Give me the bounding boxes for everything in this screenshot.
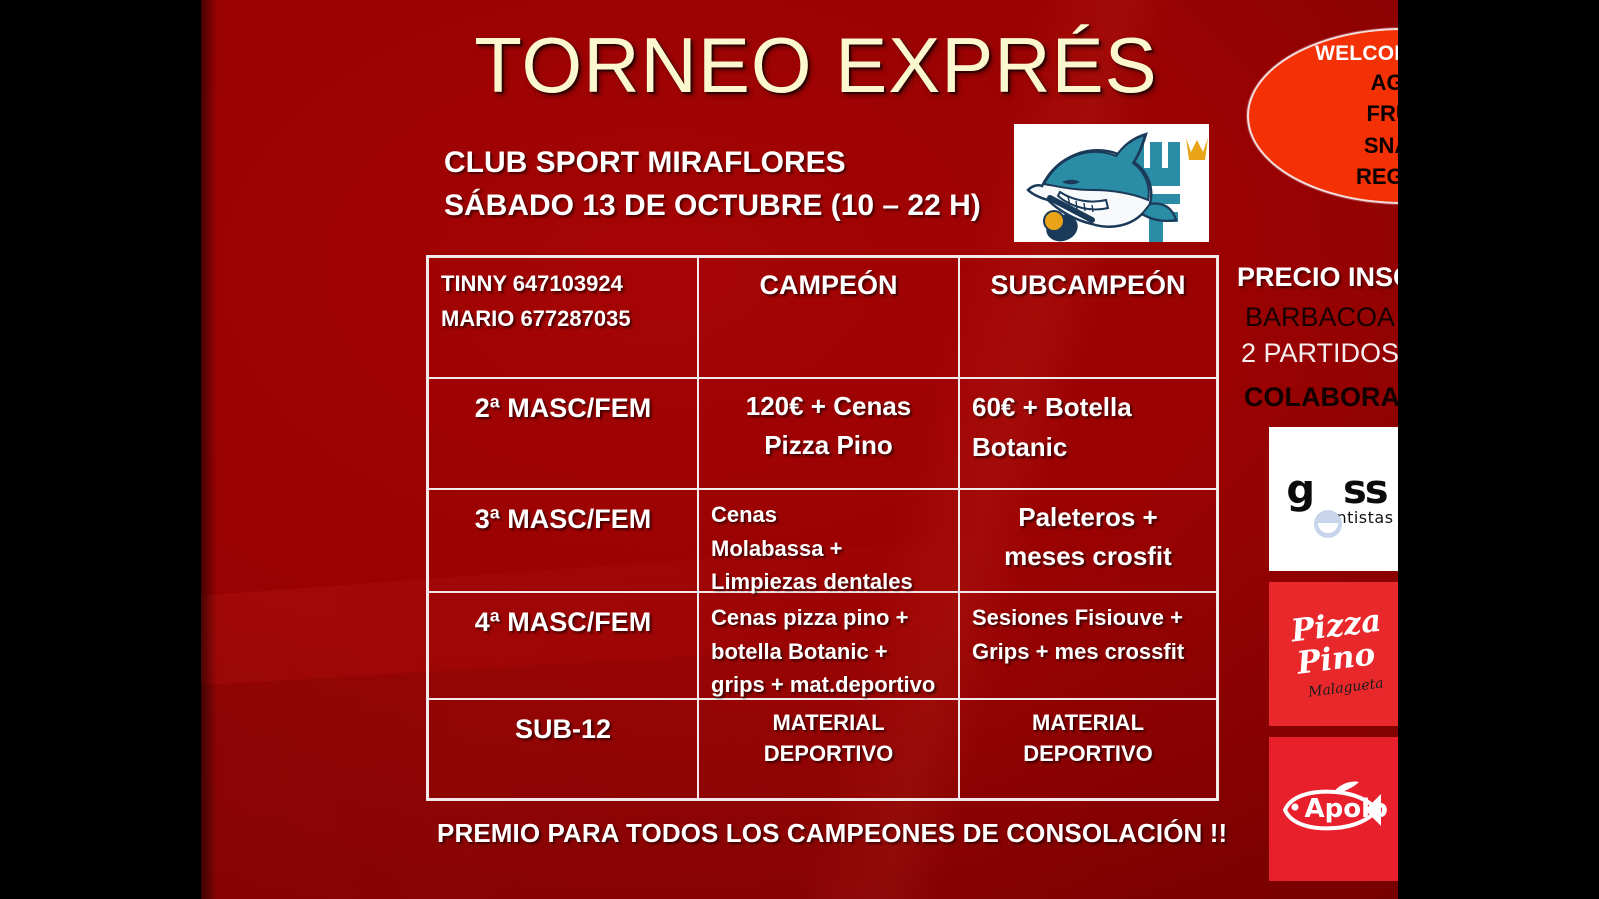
category-cell: 4ª MASC/FEM [429, 593, 699, 698]
table-row: 4ª MASC/FEM Cenas pizza pino + botella B… [429, 593, 1216, 700]
contact-mario: MARIO 677287035 [441, 301, 685, 336]
welcome-pack-item: SNACK [1364, 130, 1398, 161]
guaranteed-matches-note: 2 PARTIDOS GARANTIZADOS [1241, 338, 1398, 369]
page-title: TORNEO EXPRÉS [451, 26, 1181, 106]
sponsor-gross-dentistas-logo[interactable]: g ss dentistas [1269, 427, 1398, 571]
runnerup-prize-cell: 60€ + Botella Botanic [960, 379, 1216, 488]
consolation-prize-banner: PREMIO PARA TODOS LOS CAMPEONES DE CONSO… [437, 818, 1217, 849]
poster-canvas: TORNEO EXPRÉS CLUB SPORT MIRAFLORES SÁBA… [0, 0, 1599, 899]
champion-prize-cell: Cenas Molabassa + Limpiezas dentales [699, 490, 960, 591]
champion-prize-cell: MATERIAL DEPORTIVO [699, 700, 960, 800]
category-cell: 3ª MASC/FEM [429, 490, 699, 591]
prize-line: Molabassa + [711, 532, 946, 566]
welcome-pack-title: WELCOME PACK [1315, 40, 1398, 67]
sponsors-heading: COLABORAN: [1244, 382, 1398, 413]
category-label: 3ª MASC/FEM [441, 498, 685, 537]
category-label: 4ª MASC/FEM [441, 601, 685, 640]
header-campeon: CAMPEÓN [711, 266, 946, 305]
prize-line: Botanic [972, 427, 1204, 467]
prize-line: Cenas [711, 498, 946, 532]
sponsor-pizza-pino-logo[interactable]: Pizza Pino Malagueta [1269, 582, 1398, 726]
gross-wordmark: g ss [1286, 471, 1386, 509]
prize-line: DEPORTIVO [711, 739, 946, 770]
prize-line: botella Botanic + [711, 635, 946, 669]
category-label: 2ª MASC/FEM [441, 387, 685, 426]
table-row: 2ª MASC/FEM 120€ + Cenas Pizza Pino 60€ … [429, 379, 1216, 490]
column-header-champion: CAMPEÓN [699, 258, 960, 377]
header-subcampeon: SUBCAMPEÓN [972, 266, 1204, 305]
runnerup-prize-cell: MATERIAL DEPORTIVO [960, 700, 1216, 800]
welcome-pack-item: AGUA [1371, 67, 1398, 98]
poster-panel: TORNEO EXPRÉS CLUB SPORT MIRAFLORES SÁBA… [201, 0, 1398, 899]
category-label: SUB-12 [441, 708, 685, 747]
prizes-table: TINNY 647103924 MARIO 677287035 CAMPEÓN … [426, 255, 1219, 801]
column-header-runnerup: SUBCAMPEÓN [960, 258, 1216, 377]
sponsor-apolo-logo[interactable]: Apolo [1269, 737, 1398, 881]
event-subtitle: CLUB SPORT MIRAFLORES SÁBADO 13 DE OCTUB… [444, 142, 1044, 227]
prize-line: DEPORTIVO [972, 739, 1204, 770]
prize-line: MATERIAL [711, 708, 946, 739]
category-cell: 2ª MASC/FEM [429, 379, 699, 488]
champion-prize-cell: 120€ + Cenas Pizza Pino [699, 379, 960, 488]
pino-line2: Pino [1296, 639, 1378, 679]
category-cell: SUB-12 [429, 700, 699, 800]
venue-name: CLUB SPORT MIRAFLORES [444, 142, 1044, 185]
registration-price: PRECIO INSCRIPCIÓN 15€ [1237, 262, 1398, 293]
event-date: SÁBADO 13 DE OCTUBRE (10 – 22 H) [444, 185, 1044, 228]
table-row: TINNY 647103924 MARIO 677287035 CAMPEÓN … [429, 258, 1216, 379]
welcome-pack-badge: WELCOME PACK AGUA FRUTA SNACK REGALO [1247, 28, 1398, 204]
barbecue-note: BARBACOA TODO EL DIA [1245, 302, 1398, 333]
welcome-pack-item: REGALO [1356, 161, 1398, 192]
club-shark-logo-icon [1014, 124, 1209, 242]
champion-prize-cell: Cenas pizza pino + botella Botanic + gri… [699, 593, 960, 698]
runnerup-prize-cell: Sesiones Fisiouve + Grips + mes crossfit [960, 593, 1216, 698]
gross-text-ss: ss [1343, 467, 1387, 513]
welcome-pack-item: FRUTA [1367, 98, 1398, 129]
prize-line: 120€ + Cenas [711, 387, 946, 426]
left-edge-shade [201, 0, 217, 899]
prize-line: Cenas pizza pino + [711, 601, 946, 635]
prize-line: grips + mat.deportivo [711, 668, 946, 702]
prize-line: Paleteros + [972, 498, 1204, 537]
prize-line: Grips + mes crossfit [972, 635, 1204, 669]
prize-line: Pizza Pino [711, 426, 946, 465]
prize-line: Sesiones Fisiouve + [972, 601, 1204, 635]
sponsor-logo-grid: g ss dentistas MOLA [1269, 427, 1398, 872]
prize-line: 60€ + Botella [972, 387, 1204, 427]
gross-text-g: g [1286, 467, 1313, 513]
table-row: 3ª MASC/FEM Cenas Molabassa + Limpiezas … [429, 490, 1216, 593]
prize-line: meses crosfit [972, 537, 1204, 576]
prize-line: MATERIAL [972, 708, 1204, 739]
contact-tinny: TINNY 647103924 [441, 266, 685, 301]
apolo-wordmark: Apolo [1305, 794, 1388, 824]
apolo-fish-icon: Apolo [1277, 780, 1397, 838]
runnerup-prize-cell: Paleteros + meses crosfit [960, 490, 1216, 591]
contacts-cell: TINNY 647103924 MARIO 677287035 [429, 258, 699, 377]
table-row: SUB-12 MATERIAL DEPORTIVO MATERIAL DEPOR… [429, 700, 1216, 800]
